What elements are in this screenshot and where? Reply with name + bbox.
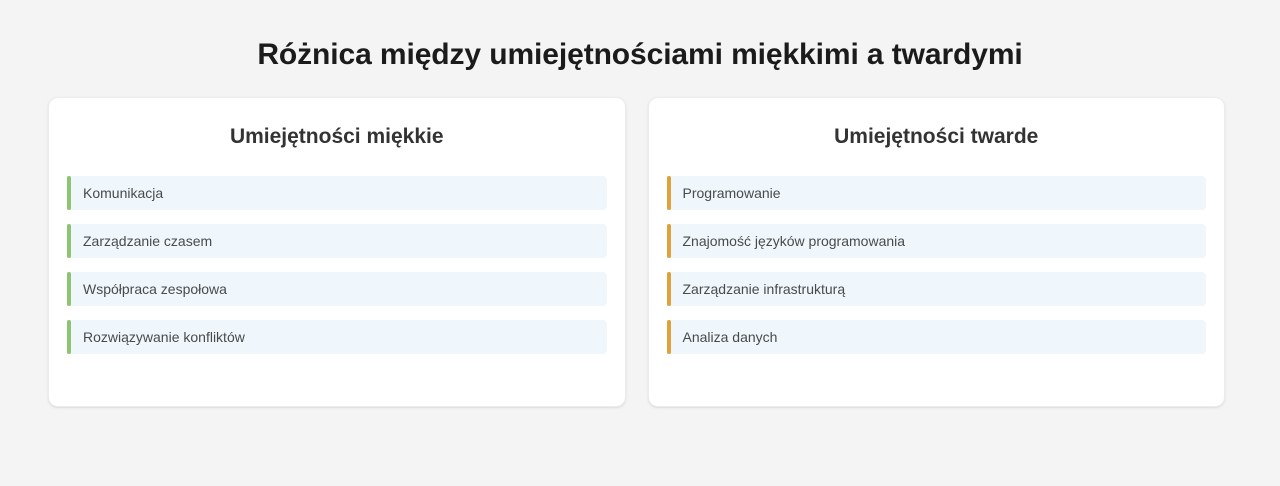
list-item[interactable]: Znajomość języków programowania	[667, 224, 1207, 258]
list-item-label: Współpraca zespołowa	[83, 280, 227, 298]
list-item[interactable]: Rozwiązywanie konfliktów	[67, 320, 607, 354]
list-item-label: Programowanie	[683, 184, 781, 202]
list-item-label: Analiza danych	[683, 328, 778, 346]
list-item[interactable]: Zarządzanie czasem	[67, 224, 607, 258]
list-item-label: Rozwiązywanie konfliktów	[83, 328, 245, 346]
list-item[interactable]: Zarządzanie infrastrukturą	[667, 272, 1207, 306]
card-hard-skills: Umiejętności twarde Programowanie Znajom…	[648, 97, 1226, 407]
card-hard-skills-title: Umiejętności twarde	[667, 124, 1207, 150]
list-item-label: Zarządzanie czasem	[83, 232, 212, 250]
accent-bar-icon	[67, 272, 71, 306]
list-item-label: Znajomość języków programowania	[683, 232, 906, 250]
list-item[interactable]: Komunikacja	[67, 176, 607, 210]
hard-skills-list: Programowanie Znajomość języków programo…	[667, 176, 1207, 354]
cards-container: Umiejętności miękkie Komunikacja Zarządz…	[0, 74, 1280, 407]
card-soft-skills: Umiejętności miękkie Komunikacja Zarządz…	[48, 97, 626, 407]
accent-bar-icon	[67, 176, 71, 210]
accent-bar-icon	[667, 224, 671, 258]
page-title: Różnica między umiejętnościami miękkimi …	[0, 0, 1280, 74]
list-item[interactable]: Współpraca zespołowa	[67, 272, 607, 306]
accent-bar-icon	[67, 320, 71, 354]
accent-bar-icon	[667, 272, 671, 306]
comparison-page: Różnica między umiejętnościami miękkimi …	[0, 0, 1280, 486]
soft-skills-list: Komunikacja Zarządzanie czasem Współprac…	[67, 176, 607, 354]
list-item[interactable]: Analiza danych	[667, 320, 1207, 354]
accent-bar-icon	[67, 224, 71, 258]
list-item[interactable]: Programowanie	[667, 176, 1207, 210]
list-item-label: Komunikacja	[83, 184, 163, 202]
card-soft-skills-title: Umiejętności miękkie	[67, 124, 607, 150]
accent-bar-icon	[667, 320, 671, 354]
list-item-label: Zarządzanie infrastrukturą	[683, 280, 846, 298]
accent-bar-icon	[667, 176, 671, 210]
